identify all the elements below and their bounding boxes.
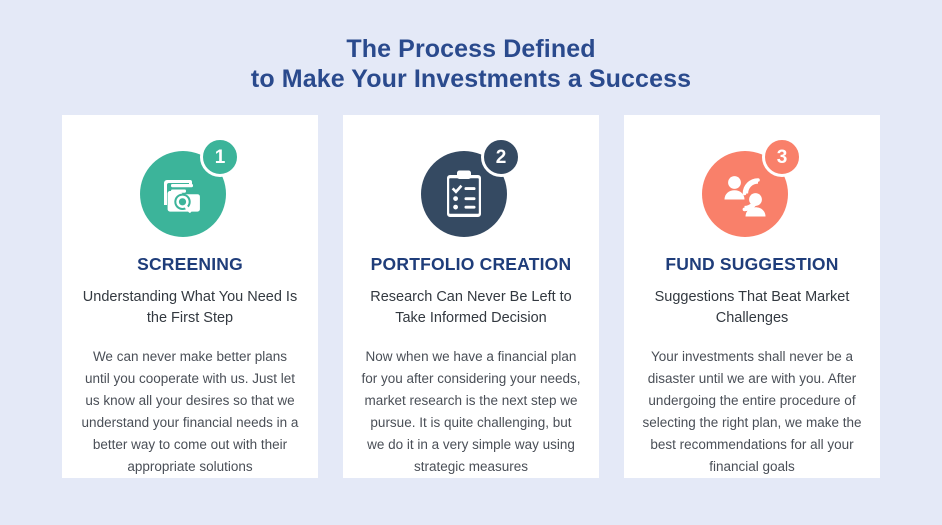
icon-badge-group-2: 2 [415, 137, 527, 237]
process-section: The Process Defined to Make Your Investm… [0, 0, 942, 525]
process-card-fund-suggestion[interactable]: 3 FUND SUGGESTION Suggestions That Beat … [624, 115, 880, 478]
card-subtitle: Suggestions That Beat Market Challenges [644, 287, 860, 329]
card-title: SCREENING [137, 253, 243, 275]
card-subtitle: Understanding What You Need Is the First… [82, 287, 298, 329]
icon-badge-group-1: 1 [134, 137, 246, 237]
process-cards-row: 1 SCREENING Understanding What You Need … [62, 115, 880, 478]
page-title: The Process Defined to Make Your Investm… [0, 34, 942, 94]
process-card-portfolio-creation[interactable]: 2 PORTFOLIO CREATION Research Can Never … [343, 115, 599, 478]
card-body: Your investments shall never be a disast… [641, 346, 863, 478]
step-badge-1: 1 [200, 137, 240, 177]
process-card-screening[interactable]: 1 SCREENING Understanding What You Need … [62, 115, 318, 478]
card-body: We can never make better plans until you… [79, 346, 301, 478]
page-title-line-1: The Process Defined [0, 34, 942, 64]
card-title: PORTFOLIO CREATION [371, 253, 572, 275]
page-title-line-2: to Make Your Investments a Success [0, 64, 942, 94]
step-badge-2: 2 [481, 137, 521, 177]
icon-badge-group-3: 3 [696, 137, 808, 237]
step-badge-3: 3 [762, 137, 802, 177]
card-title: FUND SUGGESTION [665, 253, 838, 275]
card-body: Now when we have a financial plan for yo… [360, 346, 582, 478]
card-subtitle: Research Can Never Be Left to Take Infor… [363, 287, 579, 329]
